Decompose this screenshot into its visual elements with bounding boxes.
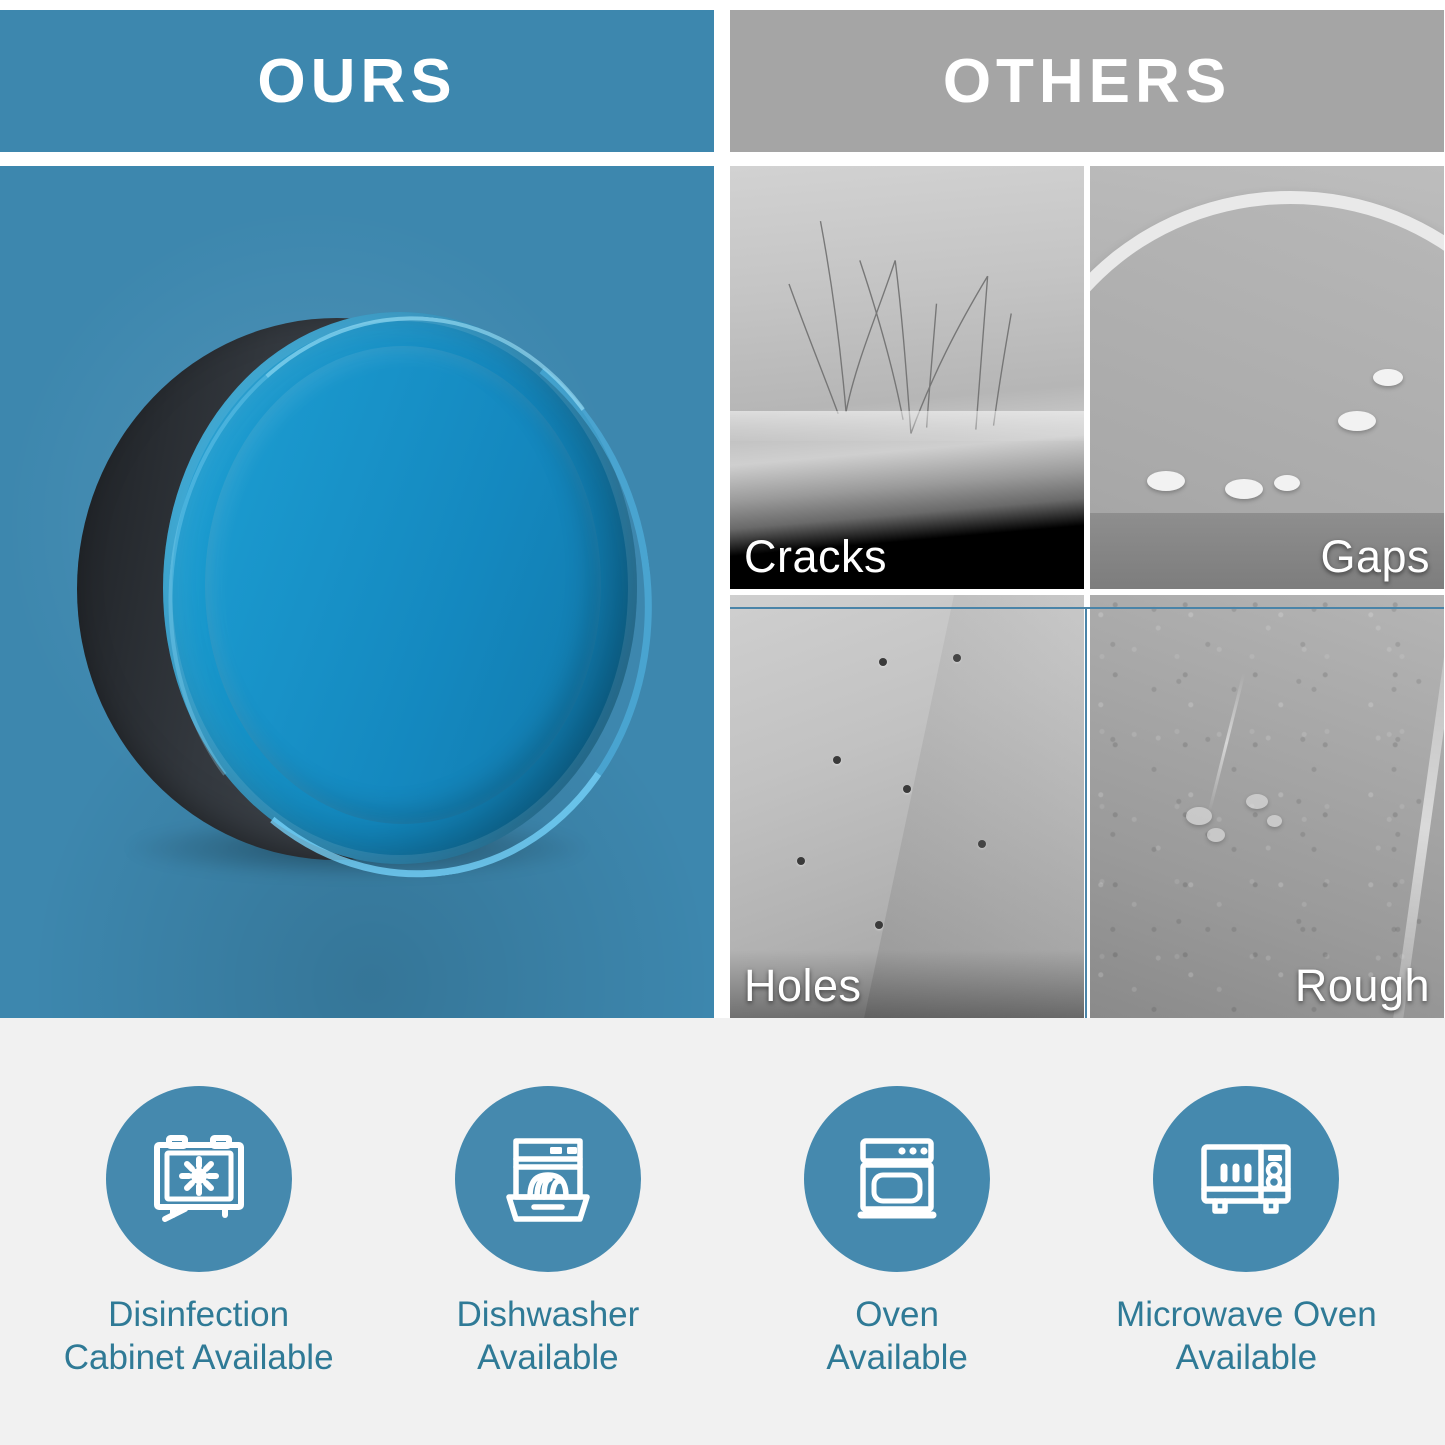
silicone-cake-pan-image — [77, 312, 637, 872]
defect-label-rough: Rough — [1295, 960, 1430, 1012]
grid-divider-vertical-top — [1085, 166, 1089, 609]
others-panel: OTHERS — [730, 10, 1444, 1018]
defect-label-gaps: Gaps — [1320, 531, 1430, 583]
gap-bump — [1225, 479, 1263, 499]
pinhole — [875, 921, 883, 929]
crack-rim-highlight — [730, 411, 1084, 441]
product-comparison-infographic: OURS OTHERS — [0, 0, 1445, 1445]
feature-label-oven: Oven Available — [826, 1294, 967, 1379]
feature-disinfection-cabinet: Disinfection Cabinet Available — [34, 1086, 364, 1379]
others-header-gap — [730, 152, 1444, 166]
defect-cell-gaps: Gaps — [1090, 166, 1444, 589]
ours-product-photo — [0, 166, 714, 1018]
dishwasher-icon — [492, 1123, 604, 1235]
pinhole — [879, 658, 887, 666]
gap-bump — [1274, 475, 1300, 491]
microwave-oven-icon — [1190, 1123, 1302, 1235]
defect-label-holes: Holes — [744, 960, 862, 1012]
defect-cell-rough: Rough — [1090, 595, 1444, 1018]
ours-header-label: OURS — [257, 46, 456, 117]
rough-surface-texture — [1090, 595, 1444, 1018]
comparison-area: OURS OTHERS — [0, 0, 1445, 1018]
rough-blob — [1267, 815, 1282, 827]
feature-label-microwave-oven: Microwave Oven Available — [1116, 1294, 1377, 1379]
gap-bump — [1147, 471, 1185, 491]
feature-list: Disinfection Cabinet Available — [0, 1018, 1445, 1445]
disinfection-cabinet-icon — [143, 1123, 255, 1235]
disinfection-cabinet-badge — [106, 1086, 292, 1272]
feature-label-dishwasher: Dishwasher Available — [456, 1294, 639, 1379]
pinhole — [797, 857, 805, 865]
feature-dishwasher: Dishwasher Available — [383, 1086, 713, 1379]
crack-lines-overlay — [730, 166, 1084, 579]
feature-microwave-oven: Microwave Oven Available — [1081, 1086, 1411, 1379]
pinhole — [903, 785, 911, 793]
feature-oven: Oven Available — [732, 1086, 1062, 1379]
microwave-oven-badge — [1153, 1086, 1339, 1272]
grid-accent-vertical — [1085, 609, 1087, 1018]
defect-photo-grid: Cracks Gaps — [730, 166, 1444, 1018]
others-header-label: OTHERS — [943, 46, 1231, 117]
dishwasher-badge — [455, 1086, 641, 1272]
ours-header-gap — [0, 152, 714, 166]
grid-accent-horizontal — [730, 607, 1444, 609]
pinhole — [833, 756, 841, 764]
rough-blob — [1246, 794, 1268, 809]
oven-icon — [841, 1123, 953, 1235]
rough-blob — [1207, 828, 1225, 842]
defect-cell-holes: Holes — [730, 595, 1084, 1018]
defect-cell-cracks: Cracks — [730, 166, 1084, 589]
oven-badge — [804, 1086, 990, 1272]
ours-header-bar: OURS — [0, 10, 714, 152]
feature-label-disinfection-cabinet: Disinfection Cabinet Available — [64, 1294, 334, 1379]
ours-panel: OURS — [0, 10, 714, 1018]
others-header-bar: OTHERS — [730, 10, 1444, 152]
defect-label-cracks: Cracks — [744, 531, 887, 583]
